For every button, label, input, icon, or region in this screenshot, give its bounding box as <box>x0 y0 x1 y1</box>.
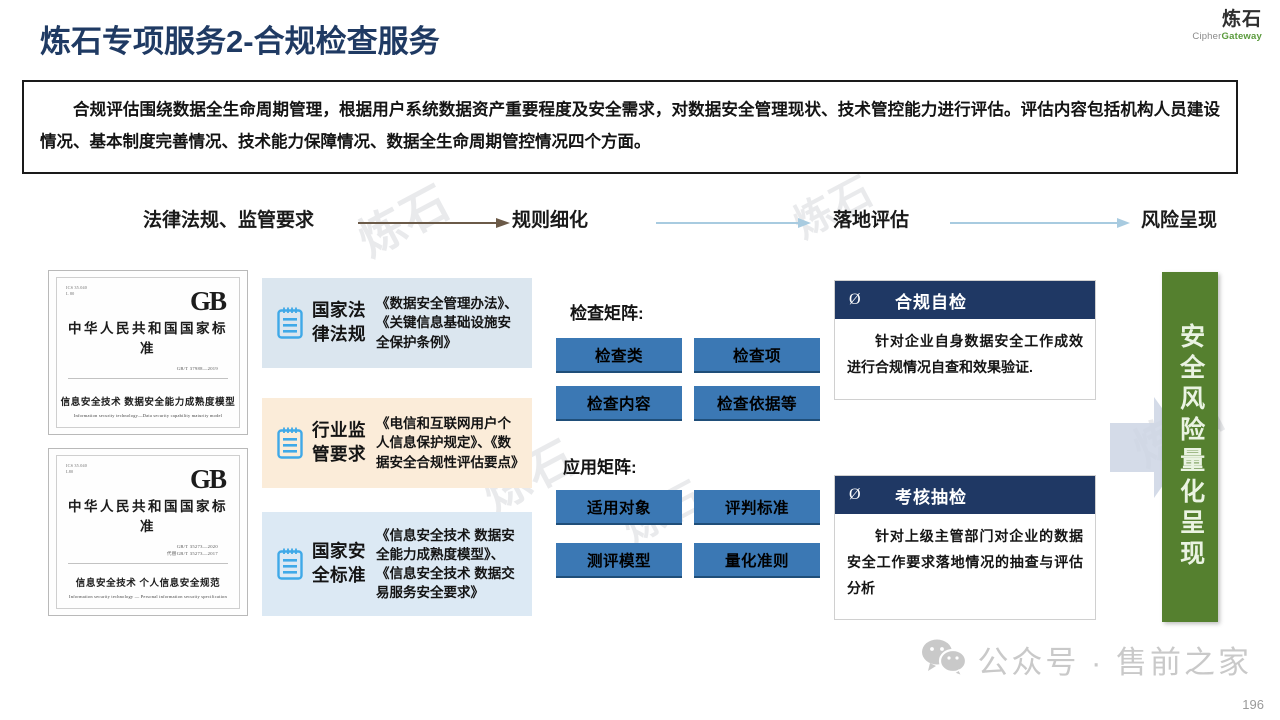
clipboard-icon <box>270 547 310 581</box>
document-subtitle-cn-2: 信息安全技术 个人信息安全规范 <box>57 575 239 589</box>
flow-step-1-label: 法律法规、监管要求 <box>143 205 314 232</box>
footer-watermark: 公众号 · 售前之家 <box>921 637 1252 682</box>
brand-logo: 炼石 CipherGateway <box>1192 10 1262 42</box>
flow-arrow-2-icon <box>656 218 811 228</box>
brand-logo-en-gateway: Gateway <box>1222 31 1262 42</box>
brand-logo-cn: 炼石 <box>1192 10 1262 30</box>
assessment-card-audit-sampling[interactable]: Ø 考核抽检 针对上级主管部门对企业的数据安全工作要求落地情况的抽查与评估分析 <box>834 475 1096 620</box>
document-title-2: 中华人民共和国国家标准 <box>66 495 230 535</box>
flow-arrow-1-icon <box>358 218 510 228</box>
matrix-cell[interactable]: 检查内容 <box>556 386 682 421</box>
assessment-card-header: Ø 合规自检 <box>835 281 1095 319</box>
matrix-cell[interactable]: 适用对象 <box>556 490 682 525</box>
inspection-matrix-title: 检查矩阵: <box>570 299 644 324</box>
document-divider-2 <box>68 563 228 564</box>
bullet-icon: Ø <box>849 486 895 504</box>
process-flow: 法律法规、监管要求 规则细化 落地评估 风险呈现 <box>0 205 1280 245</box>
regulation-card-industry-supervision[interactable]: 行业监管要求 《电信和互联网用户个人信息保护规定》、《数据安全合规性评估要点》 <box>262 398 532 488</box>
matrix-cell[interactable]: 检查项 <box>694 338 820 373</box>
regulation-description: 《电信和互联网用户个人信息保护规定》、《数据安全合规性评估要点》 <box>368 414 524 471</box>
regulation-card-national-law[interactable]: 国家法律法规 《数据安全管理办法》、《关键信息基础设施安全保护条例》 <box>262 278 532 368</box>
assessment-card-header: Ø 考核抽检 <box>835 476 1095 514</box>
document-standard-number-1: GB/T 37988—2019 <box>66 366 230 373</box>
footer-watermark-text: 公众号 · 售前之家 <box>977 637 1252 682</box>
matrix-cell[interactable]: 检查依据等 <box>694 386 820 421</box>
regulation-name: 行业监管要求 <box>310 419 368 466</box>
document-title-1: 中华人民共和国国家标准 <box>66 317 230 357</box>
page-number: 196 <box>1242 697 1264 712</box>
flow-step-4-label: 风险呈现 <box>1141 205 1217 232</box>
page-title: 炼石专项服务2-合规检查服务 <box>40 16 440 61</box>
regulation-description: 《数据安全管理办法》、《关键信息基础设施安全保护条例》 <box>368 294 524 351</box>
assessment-card-title: 合规自检 <box>895 288 967 313</box>
flow-step-2-label: 规则细化 <box>512 205 588 232</box>
document-subtitle-en-1: Information security technology—Data sec… <box>57 413 239 418</box>
standard-document-cover-1: ICS 35.040 L 80 GB 中华人民共和国国家标准 GB/T 3798… <box>48 270 248 435</box>
bullet-icon: Ø <box>849 291 895 309</box>
matrix-cell[interactable]: 检查类 <box>556 338 682 373</box>
result-bar-label: 安全风险量化呈现 <box>1174 323 1205 571</box>
regulation-card-national-standard[interactable]: 国家安全标准 《信息安全技术 数据安全能力成熟度模型》、《信息安全技术 数据交易… <box>262 512 532 616</box>
assessment-card-body: 针对上级主管部门对企业的数据安全工作要求落地情况的抽查与评估分析 <box>835 514 1095 612</box>
assessment-card-body: 针对企业自身数据安全工作成效进行合规情况自查和效果验证. <box>835 319 1095 391</box>
document-subtitle-en-2: Information security technology — Person… <box>57 594 239 599</box>
regulation-name: 国家法律法规 <box>310 299 368 346</box>
document-inner-frame-2: ICS 35.040 L80 GB 中华人民共和国国家标准 GB/T 35273… <box>56 455 240 609</box>
document-standard-number-2: GB/T 35273—2020 代替GB/T 35273—2017 <box>66 544 230 558</box>
document-subtitle-cn-1: 信息安全技术 数据安全能力成熟度模型 <box>57 394 239 408</box>
assessment-card-title: 考核抽检 <box>895 483 967 508</box>
brand-logo-en: CipherGateway <box>1192 31 1262 42</box>
matrix-cell[interactable]: 量化准则 <box>694 543 820 578</box>
matrix-cell[interactable]: 测评模型 <box>556 543 682 578</box>
intro-box: 合规评估围绕数据全生命周期管理，根据用户系统数据资产重要程度及安全需求，对数据安… <box>22 80 1238 174</box>
gb-emblem-1: GB <box>190 288 225 315</box>
gb-emblem-2: GB <box>190 466 225 493</box>
regulation-description: 《信息安全技术 数据安全能力成熟度模型》、《信息安全技术 数据交易服务安全要求》 <box>368 526 524 603</box>
document-inner-frame-1: ICS 35.040 L 80 GB 中华人民共和国国家标准 GB/T 3798… <box>56 277 240 428</box>
flow-arrow-3-icon <box>950 218 1130 228</box>
document-divider-1 <box>68 378 228 379</box>
standard-document-cover-2: ICS 35.040 L80 GB 中华人民共和国国家标准 GB/T 35273… <box>48 448 248 616</box>
clipboard-icon <box>270 306 310 340</box>
wechat-icon <box>921 638 967 681</box>
flow-step-3-label: 落地评估 <box>833 205 909 232</box>
brand-logo-en-cipher: Cipher <box>1192 31 1221 42</box>
assessment-card-self-check[interactable]: Ø 合规自检 针对企业自身数据安全工作成效进行合规情况自查和效果验证. <box>834 280 1096 400</box>
matrix-cell[interactable]: 评判标准 <box>694 490 820 525</box>
intro-text: 合规评估围绕数据全生命周期管理，根据用户系统数据资产重要程度及安全需求，对数据安… <box>40 94 1220 158</box>
application-matrix-title: 应用矩阵: <box>563 453 637 478</box>
clipboard-icon <box>270 426 310 460</box>
regulation-name: 国家安全标准 <box>310 540 368 587</box>
result-bar: 安全风险量化呈现 <box>1162 272 1218 622</box>
